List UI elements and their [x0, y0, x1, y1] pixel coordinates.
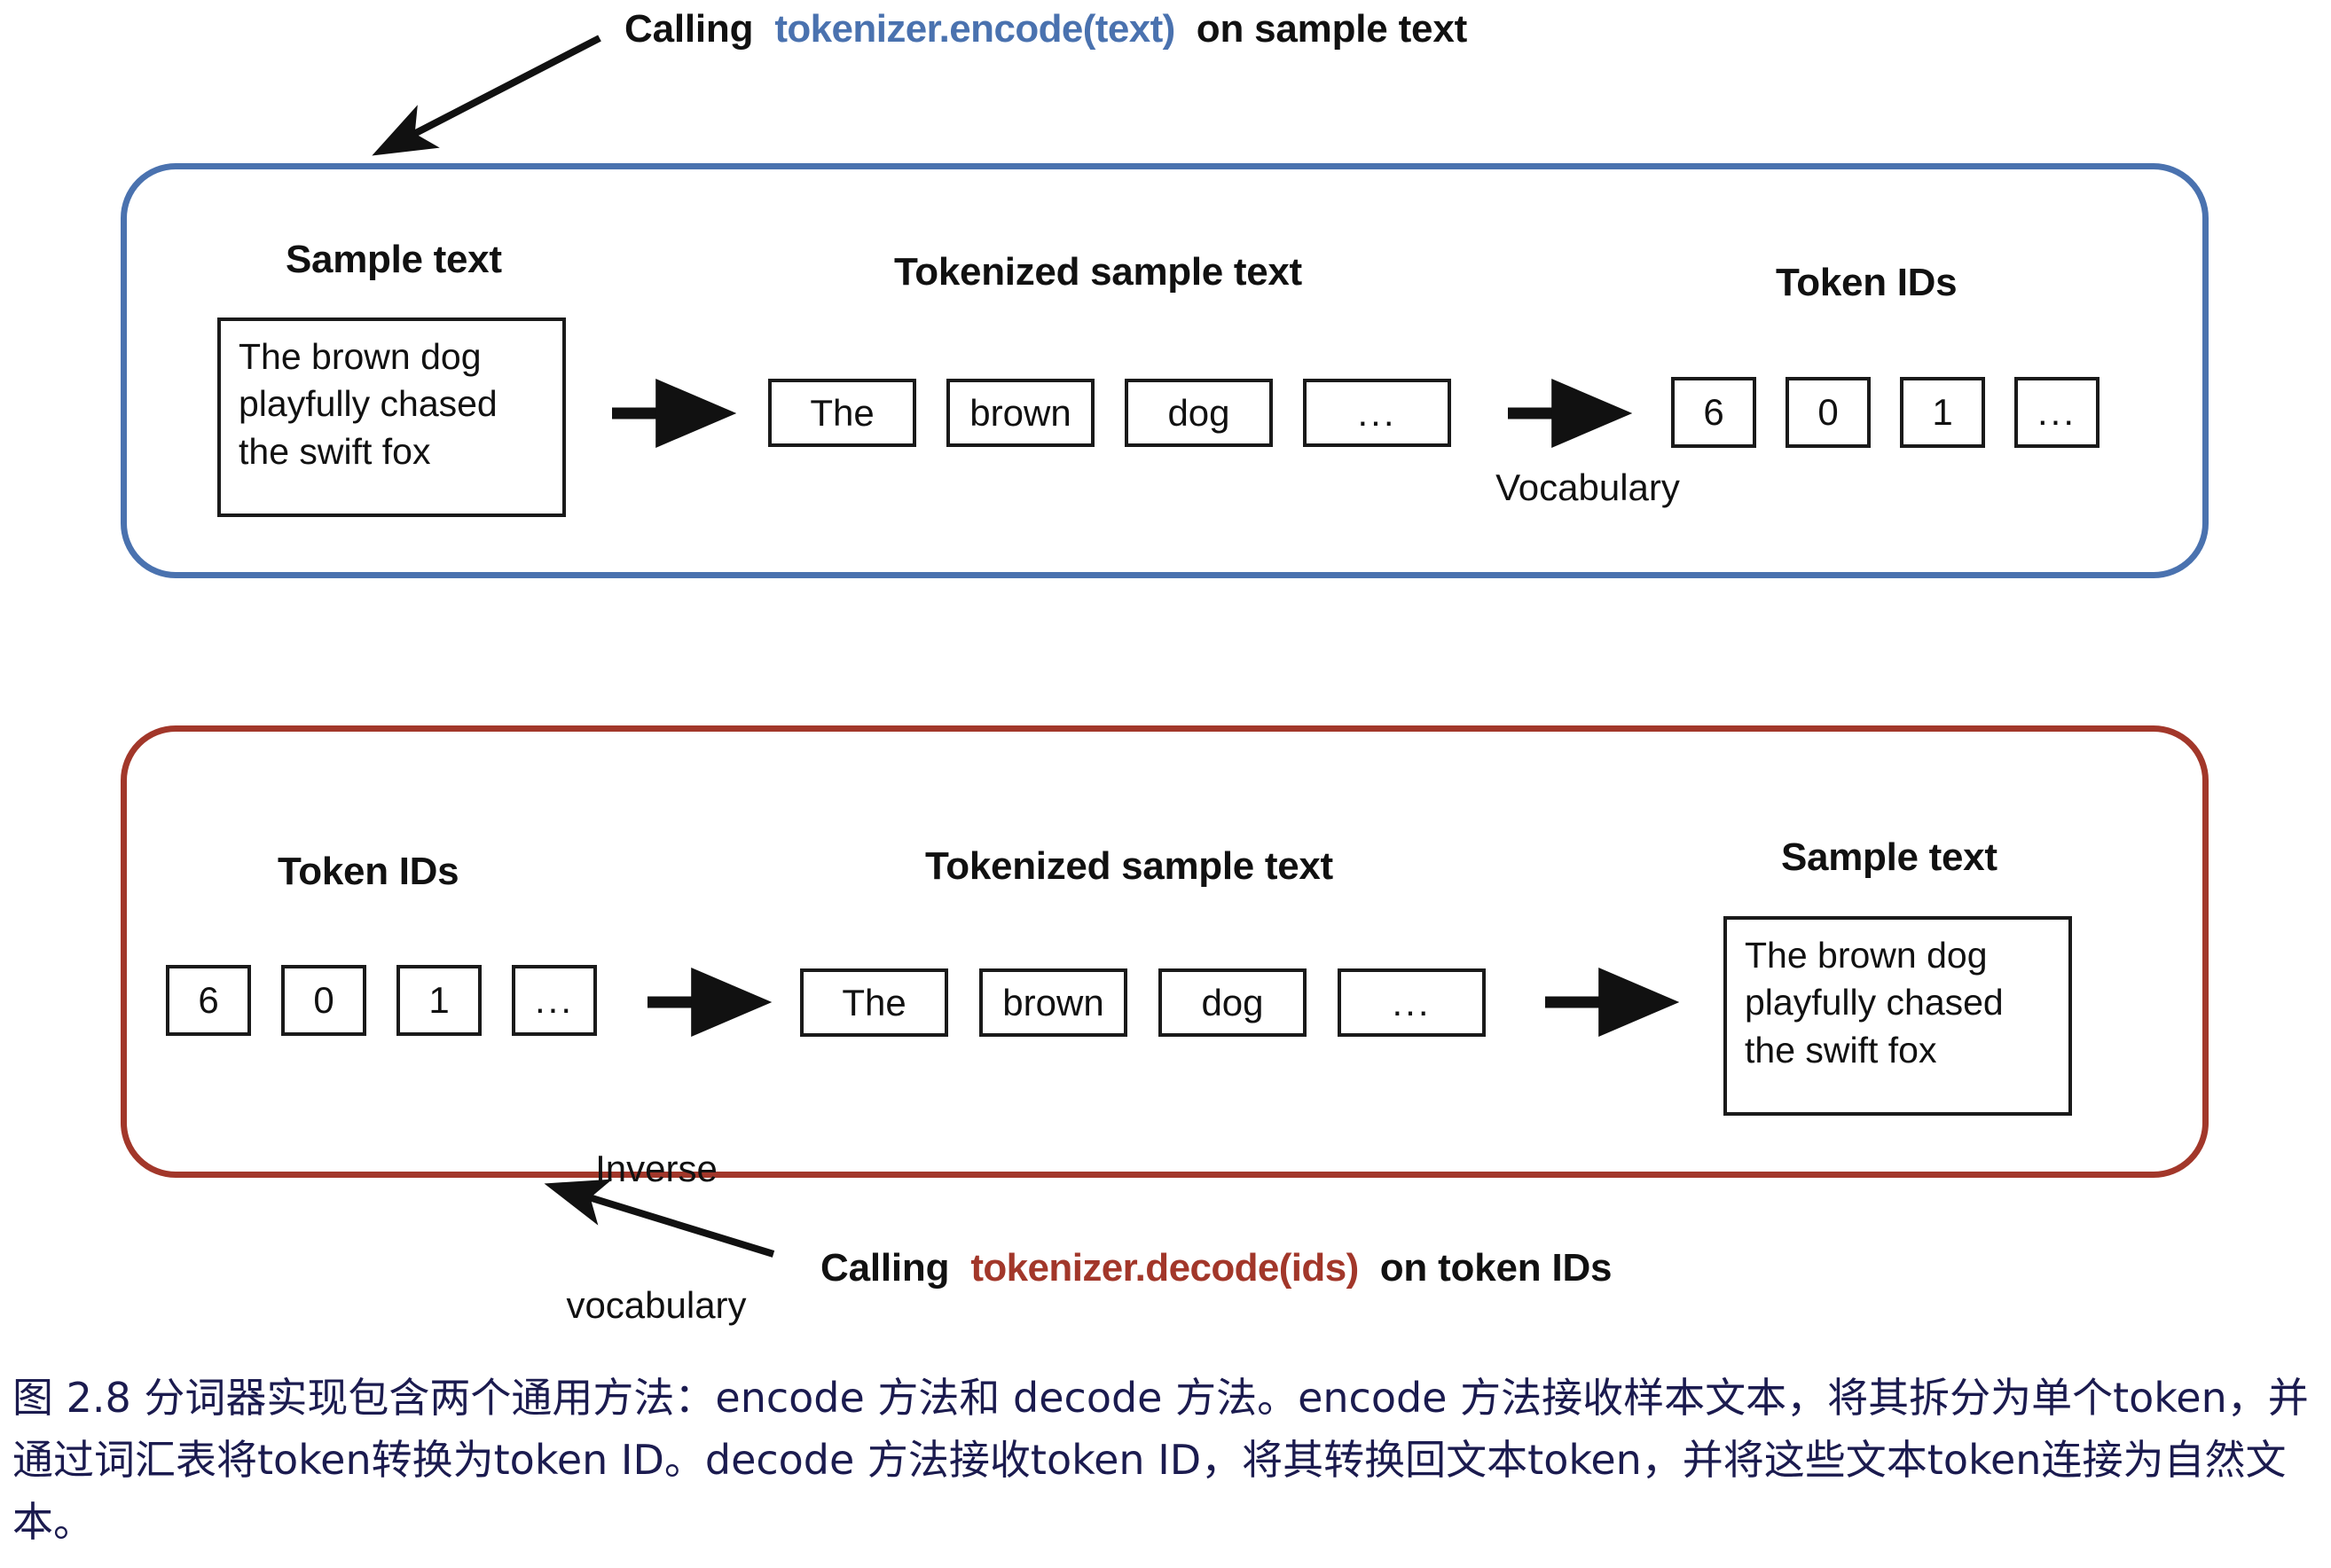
encode-id-box-2: 1 [1900, 377, 1985, 448]
decode-id-label-3: ... [535, 979, 574, 1022]
figure-caption: 图 2.8 分词器实现包含两个通用方法：encode 方法和 decode 方法… [12, 1368, 2319, 1554]
encode-sample-text-line-3: the swift fox [239, 428, 548, 475]
decode-inverse-vocabulary-label: Inverse vocabulary [488, 1055, 825, 1419]
decode-token-box-3: ... [1338, 968, 1486, 1037]
decode-token-label-2: dog [1201, 982, 1263, 1024]
encode-tokenized-heading: Tokenized sample text [894, 250, 1302, 294]
decode-id-box-2: 1 [396, 965, 482, 1036]
encode-callout-suffix: on sample text [1197, 7, 1467, 51]
decode-token-label-1: brown [1002, 982, 1103, 1024]
decode-token-label-0: The [842, 982, 906, 1024]
encode-token-box-1: brown [946, 379, 1095, 447]
decode-id-label-2: 1 [428, 979, 449, 1022]
encode-callout: Calling tokenizer.encode(text) on sample… [624, 7, 1467, 51]
encode-callout-leader-arrow [381, 38, 600, 151]
decode-callout-code: tokenizer.decode(ids) [970, 1246, 1358, 1290]
encode-id-box-1: 0 [1786, 377, 1871, 448]
encode-sample-text-box: The brown dog playfully chased the swift… [217, 318, 566, 517]
encode-id-box-3: ... [2014, 377, 2099, 448]
decode-token-ids-heading: Token IDs [278, 850, 459, 894]
decode-callout: Calling tokenizer.decode(ids) on token I… [820, 1246, 1612, 1290]
encode-callout-code: tokenizer.encode(text) [774, 7, 1174, 51]
decode-sample-text-heading: Sample text [1781, 835, 1997, 880]
encode-token-box-0: The [768, 379, 916, 447]
decode-sample-text-line-3: the swift fox [1745, 1027, 2054, 1074]
encode-id-label-3: ... [2037, 391, 2076, 434]
encode-callout-prefix: Calling [624, 7, 753, 51]
encode-token-box-2: dog [1125, 379, 1273, 447]
decode-callout-suffix: on token IDs [1380, 1246, 1613, 1290]
encode-id-label-2: 1 [1932, 391, 1952, 434]
encode-id-box-0: 6 [1671, 377, 1756, 448]
decode-token-box-2: dog [1158, 968, 1307, 1037]
decode-sample-text-box: The brown dog playfully chased the swift… [1723, 916, 2072, 1116]
encode-token-label-3: ... [1357, 392, 1396, 435]
decode-token-label-3: ... [1392, 982, 1431, 1024]
decode-callout-prefix: Calling [820, 1246, 949, 1290]
decode-tokenized-heading: Tokenized sample text [925, 844, 1333, 889]
encode-token-label-0: The [810, 392, 874, 435]
decode-sample-text-line-1: The brown dog [1745, 932, 2054, 979]
encode-id-label-0: 6 [1703, 391, 1723, 434]
decode-token-box-1: brown [979, 968, 1127, 1037]
encode-id-label-1: 0 [1817, 391, 1838, 434]
encode-token-label-1: brown [969, 392, 1071, 435]
decode-id-box-1: 0 [281, 965, 366, 1036]
encode-token-box-3: ... [1303, 379, 1451, 447]
encode-sample-text-heading: Sample text [286, 238, 502, 282]
encode-token-label-2: dog [1167, 392, 1229, 435]
encode-sample-text-line-2: playfully chased [239, 380, 548, 427]
decode-id-label-1: 0 [313, 979, 334, 1022]
encode-vocabulary-label: Vocabulary [1455, 465, 1721, 510]
decode-inverse-vocabulary-line-1: Inverse [488, 1146, 825, 1191]
figure-canvas: Calling tokenizer.encode(text) on sample… [0, 0, 2331, 1568]
decode-id-label-0: 6 [198, 979, 218, 1022]
decode-id-box-0: 6 [166, 965, 251, 1036]
decode-sample-text-line-2: playfully chased [1745, 979, 2054, 1026]
decode-token-box-0: The [800, 968, 948, 1037]
decode-id-box-3: ... [512, 965, 597, 1036]
encode-sample-text-line-1: The brown dog [239, 333, 548, 380]
decode-inverse-vocabulary-line-2: vocabulary [488, 1282, 825, 1328]
encode-token-ids-heading: Token IDs [1776, 261, 1957, 305]
